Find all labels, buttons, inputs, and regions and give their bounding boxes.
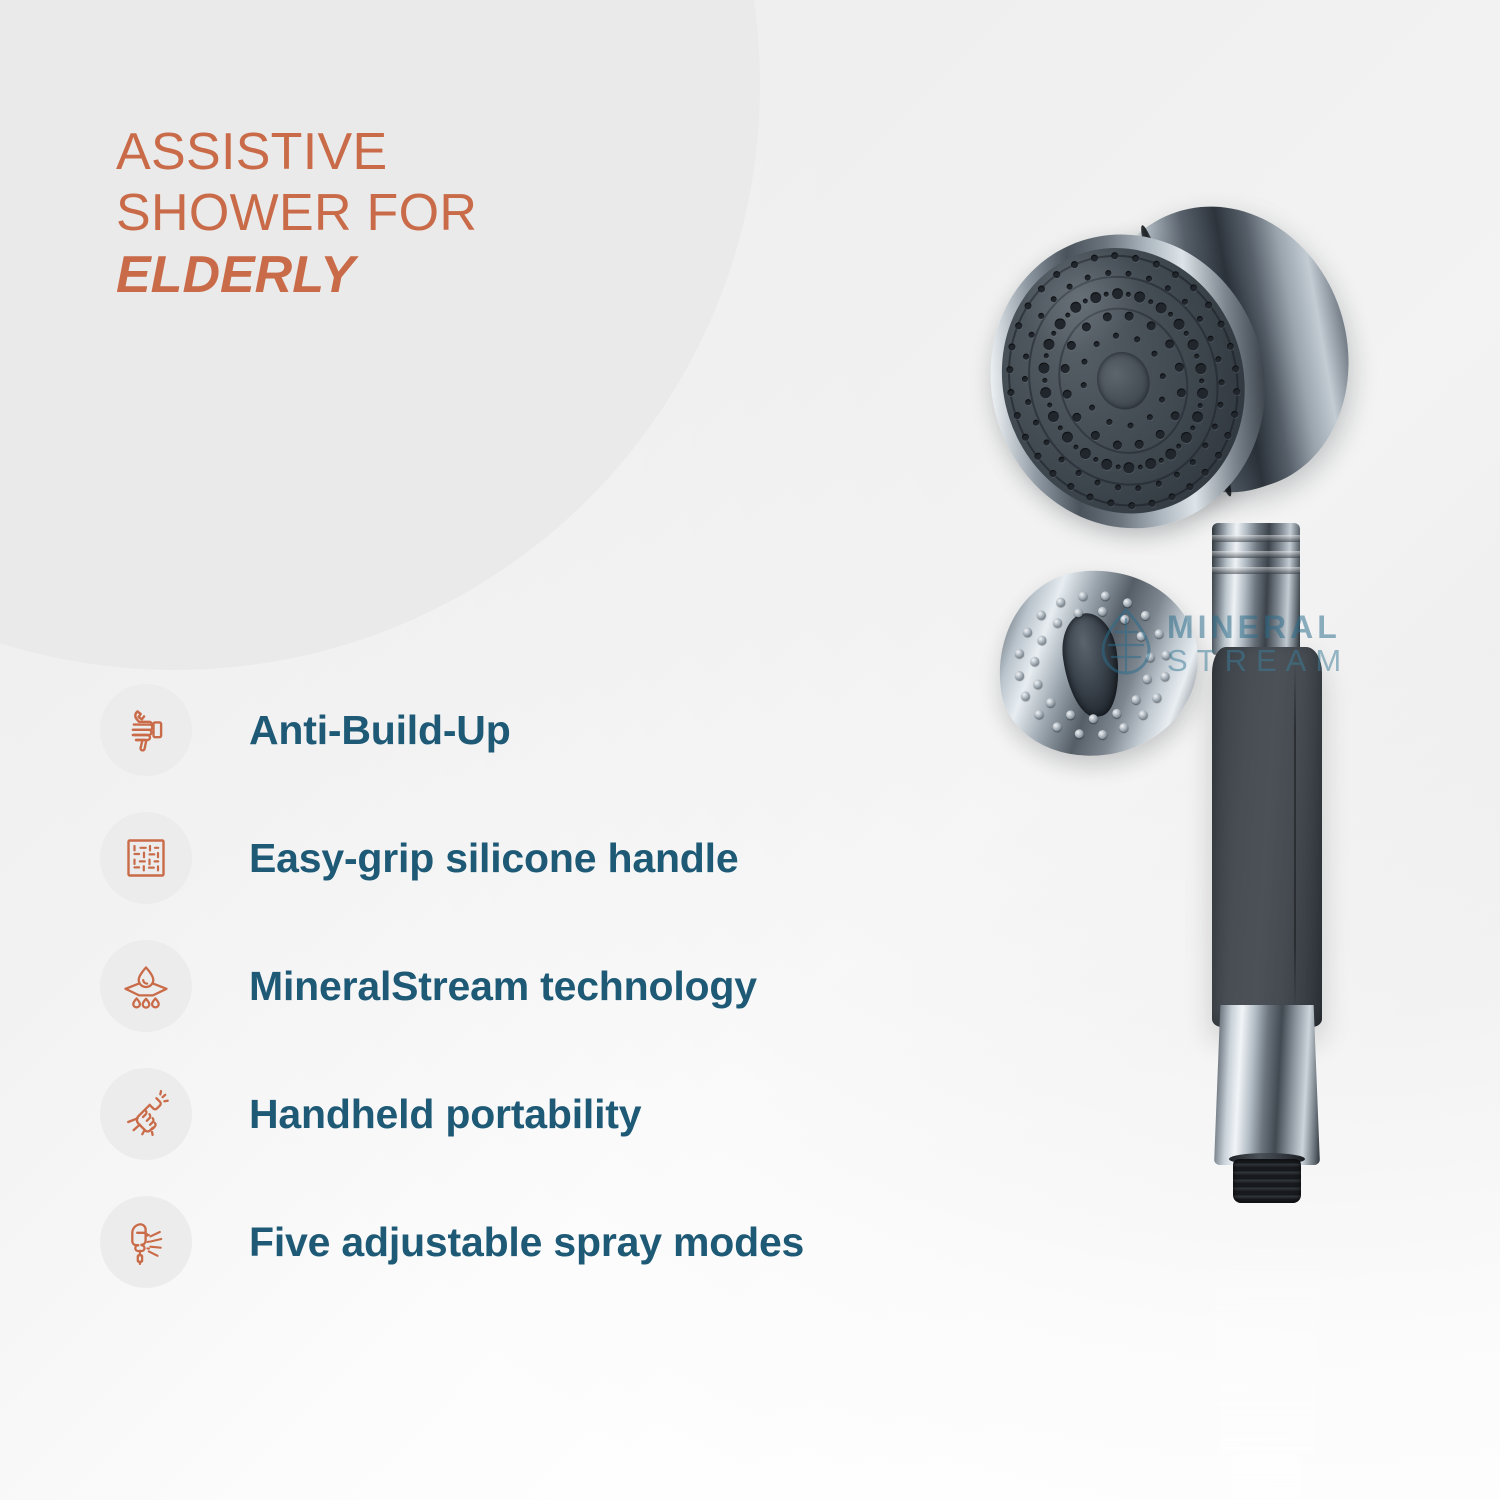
list-item: Anti-Build-Up <box>100 684 1100 776</box>
shower-head-assembly <box>943 168 1397 622</box>
spraying-showerhead-icon <box>120 1216 172 1268</box>
feature-icon-badge <box>100 684 192 776</box>
threaded-hose-connector <box>1233 1159 1301 1203</box>
headline-line-3: ELDERLY <box>116 245 716 306</box>
feature-icon-badge <box>100 812 192 904</box>
water-droplet-filter-icon <box>119 959 173 1013</box>
product-reflection <box>990 1228 1410 1500</box>
lever-dimple <box>1036 635 1046 645</box>
lever-dimple <box>1097 729 1107 739</box>
hand-holding-sprayer-icon <box>120 1088 172 1140</box>
feature-label: Easy-grip silicone handle <box>249 835 738 882</box>
handheld-shower-head-image <box>990 215 1410 1225</box>
neck-collar-3 <box>1212 567 1300 574</box>
feature-list: Anti-Build-Up Easy-grip s <box>100 684 1100 1288</box>
lever-dimple <box>1014 670 1024 680</box>
page-title: ASSISTIVE SHOWER FOR ELDERLY <box>116 122 716 306</box>
feature-icon-badge <box>100 940 192 1032</box>
feature-label: Handheld portability <box>249 1091 641 1138</box>
lever-dimple <box>1145 652 1155 662</box>
headline-line-2: SHOWER FOR <box>116 183 716 244</box>
feature-icon-badge <box>100 1068 192 1160</box>
feature-label: MineralStream technology <box>249 963 757 1010</box>
lever-dimple <box>1052 617 1062 627</box>
list-item: MineralStream technology <box>100 940 1100 1032</box>
ribbed-chrome-neck <box>1212 523 1300 655</box>
reflection-grip <box>1212 1228 1322 1294</box>
infographic-canvas: ASSISTIVE SHOWER FOR ELDERLY <box>0 0 1500 1500</box>
neck-collar-2 <box>1212 551 1300 558</box>
chrome-lower-barrel <box>1214 1005 1320 1165</box>
lever-dimple <box>1160 649 1170 659</box>
hand-holding-wrench-icon <box>120 704 172 756</box>
chrome-massage-lever <box>986 557 1210 768</box>
reflection-barrel <box>1214 1292 1320 1454</box>
grip-seam <box>1294 663 1296 1009</box>
lever-dimple <box>1034 709 1044 719</box>
reflection-connector <box>1233 1454 1301 1498</box>
list-item: Five adjustable spray modes <box>100 1196 1100 1288</box>
headline-line-1: ASSISTIVE <box>116 122 716 183</box>
silicone-grip-sleeve <box>1212 647 1322 1027</box>
neck-collar-1 <box>1212 535 1300 542</box>
feature-icon-badge <box>100 1196 192 1288</box>
feature-label: Anti-Build-Up <box>249 707 511 754</box>
list-item: Handheld portability <box>100 1068 1100 1160</box>
hero-background-circle <box>0 0 760 670</box>
feature-label: Five adjustable spray modes <box>249 1219 804 1266</box>
lever-dimple <box>1077 590 1087 600</box>
textured-grip-square-icon <box>121 833 171 883</box>
list-item: Easy-grip silicone handle <box>100 812 1100 904</box>
